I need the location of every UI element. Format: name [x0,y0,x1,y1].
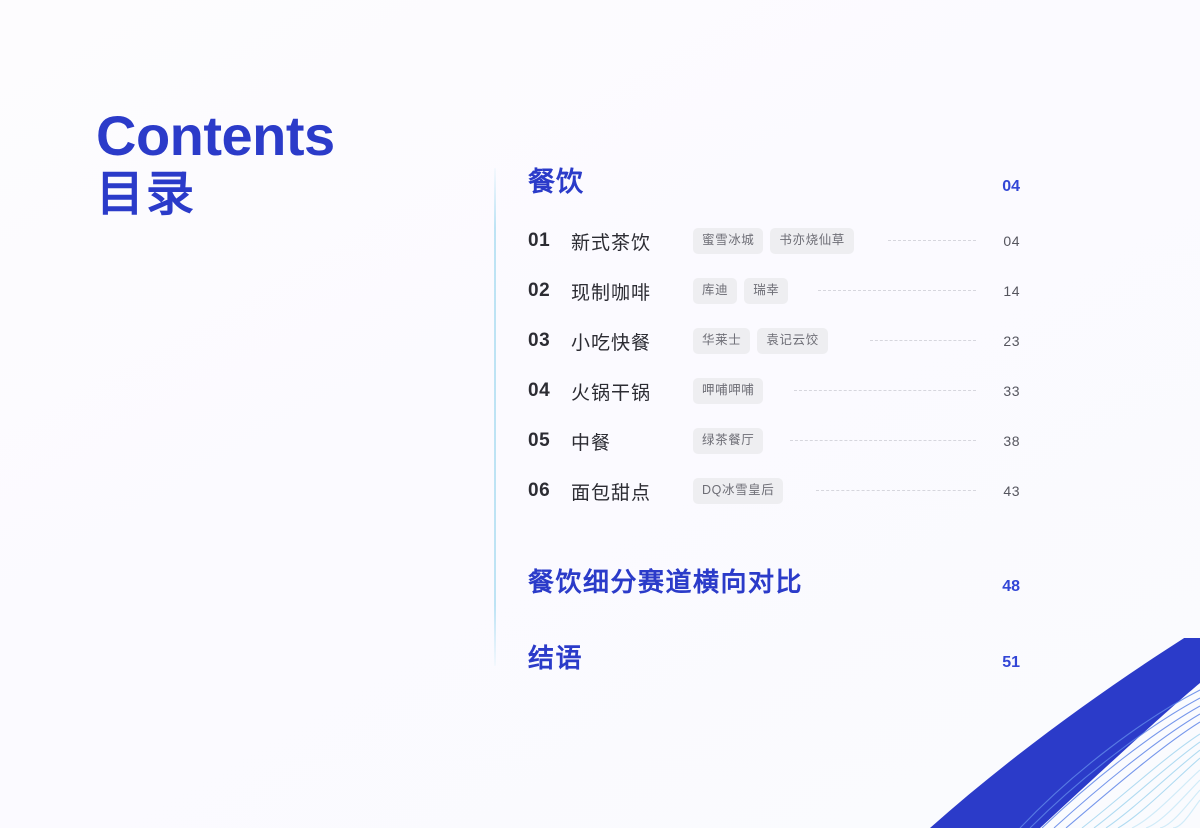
tag-chip: 蜜雪冰城 [693,228,763,254]
leader-dots [888,240,976,242]
toc-section-comparison[interactable]: 餐饮细分赛道横向对比 48 [528,562,1020,606]
item-label: 火锅干锅 [571,378,651,405]
tag-chip: 袁记云饺 [757,328,827,354]
item-tags: 呷哺呷哺 [693,378,763,404]
list-item[interactable]: 05 中餐 绿茶餐厅 38 [528,416,1020,466]
tag-chip: 瑞幸 [744,278,788,304]
toc-section-title: 餐饮细分赛道横向对比 [528,562,803,599]
list-item[interactable]: 02 现制咖啡 库迪 瑞幸 14 [528,266,1020,316]
item-page: 14 [990,283,1020,299]
item-label: 中餐 [571,428,611,455]
item-label: 现制咖啡 [571,278,651,305]
table-of-contents: 餐饮 04 01 新式茶饮 蜜雪冰城 书亦烧仙草 04 02 现制咖啡 库迪 瑞… [528,160,1020,682]
leader-dots [790,440,976,442]
toc-section-page: 04 [994,178,1020,196]
tag-chip: 呷哺呷哺 [693,378,763,404]
item-number: 06 [528,480,562,502]
toc-section-conclusion[interactable]: 结语 51 [528,638,1020,682]
tag-chip: 库迪 [693,278,737,304]
item-tags: DQ冰雪皇后 [693,478,783,504]
tag-chip: DQ冰雪皇后 [693,478,783,504]
vertical-divider [494,168,496,666]
page-title: Contents 目录 [96,108,456,220]
toc-section-title: 结语 [528,638,583,675]
list-item[interactable]: 01 新式茶饮 蜜雪冰城 书亦烧仙草 04 [528,216,1020,266]
item-number: 02 [528,280,562,302]
toc-section-header[interactable]: 餐饮 04 [528,160,1020,202]
item-page: 23 [990,333,1020,349]
spacer [528,606,1020,638]
spacer [528,516,1020,562]
item-number: 04 [528,380,562,402]
item-page: 04 [990,233,1020,249]
slide-canvas: Contents 目录 餐饮 04 01 新式茶饮 蜜雪冰城 书亦烧仙草 04 … [0,0,1200,828]
item-number: 03 [528,330,562,352]
tag-chip: 书亦烧仙草 [770,228,854,254]
item-tags: 库迪 瑞幸 [693,278,788,304]
item-number: 05 [528,430,562,452]
item-tags: 蜜雪冰城 书亦烧仙草 [693,228,854,254]
item-tags: 华莱士 袁记云饺 [693,328,828,354]
item-page: 33 [990,383,1020,399]
item-label: 小吃快餐 [571,328,651,355]
toc-item-list: 01 新式茶饮 蜜雪冰城 书亦烧仙草 04 02 现制咖啡 库迪 瑞幸 14 [528,216,1020,516]
toc-section-title: 餐饮 [528,160,584,199]
title-english: Contents [96,108,456,164]
leader-dots [816,490,976,492]
item-label: 新式茶饮 [571,228,651,255]
item-number: 01 [528,230,562,252]
list-item[interactable]: 06 面包甜点 DQ冰雪皇后 43 [528,466,1020,516]
item-page: 43 [990,483,1020,499]
item-page: 38 [990,433,1020,449]
tag-chip: 绿茶餐厅 [693,428,763,454]
toc-section-page: 48 [994,578,1020,596]
list-item[interactable]: 03 小吃快餐 华莱士 袁记云饺 23 [528,316,1020,366]
tag-chip: 华莱士 [693,328,750,354]
item-label: 面包甜点 [571,478,651,505]
item-tags: 绿茶餐厅 [693,428,763,454]
toc-section-page: 51 [994,654,1020,672]
leader-dots [794,390,976,392]
title-chinese: 目录 [96,170,456,220]
leader-dots [870,340,976,342]
list-item[interactable]: 04 火锅干锅 呷哺呷哺 33 [528,366,1020,416]
leader-dots [818,290,976,292]
